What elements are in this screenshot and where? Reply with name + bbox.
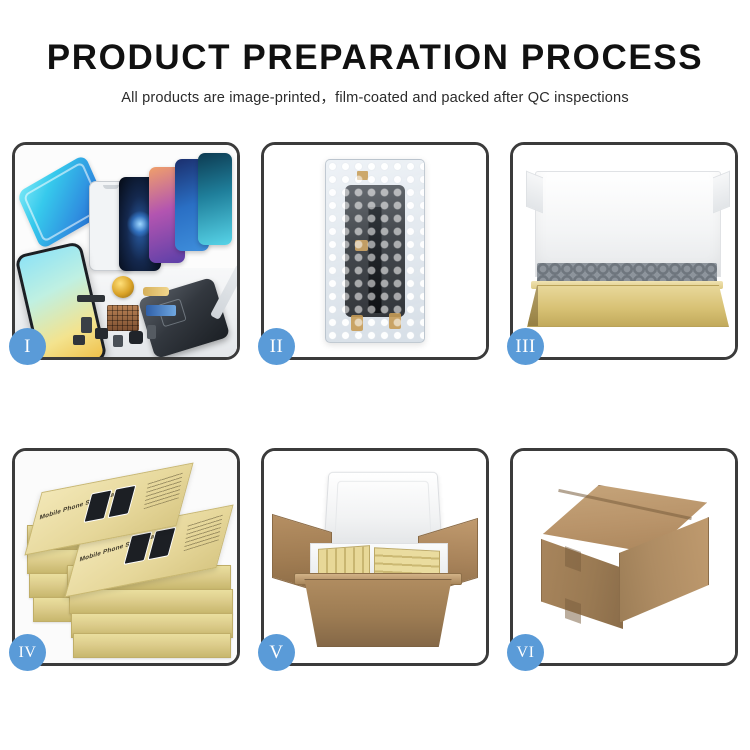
small-component-4 xyxy=(129,331,143,344)
box-layer-8 xyxy=(73,633,231,658)
step-badge-3: III xyxy=(507,328,544,365)
step-badge-4: IV xyxy=(9,634,46,671)
lid-spec-text-lines-2 xyxy=(144,472,183,510)
lid-spec-text-lines xyxy=(184,514,223,552)
step-3-image xyxy=(513,145,735,357)
step-6-image xyxy=(513,451,735,663)
step-1-image xyxy=(15,145,237,357)
process-step-panel-6[interactable]: VI xyxy=(510,448,738,666)
step-badge-6: VI xyxy=(507,634,544,671)
box-stack: Mobile Phone Spare Parts Mobile Phone Sp… xyxy=(27,473,233,651)
process-step-panel-2[interactable]: II xyxy=(261,142,489,360)
chip-board-part xyxy=(107,305,139,331)
bubble-texture-overlay xyxy=(326,160,424,342)
step-badge-5: V xyxy=(258,634,295,671)
step-numeral-6: VI xyxy=(517,644,535,662)
step-numeral-4: IV xyxy=(19,644,37,662)
step-numeral-1: I xyxy=(24,336,31,358)
process-step-grid: I II xyxy=(12,142,738,666)
step-4-image: Mobile Phone Spare Parts Mobile Phone Sp… xyxy=(15,451,237,663)
process-step-panel-3[interactable]: III xyxy=(510,142,738,360)
kraft-box-base xyxy=(527,285,729,327)
page-header: PRODUCT PREPARATION PROCESS All products… xyxy=(0,0,750,107)
small-component-1 xyxy=(81,317,92,333)
blue-flex-part xyxy=(146,305,176,316)
step-badge-2: II xyxy=(258,328,295,365)
box-layer-6 xyxy=(69,589,233,614)
step-2-image xyxy=(264,145,486,357)
small-component-5 xyxy=(147,325,156,339)
carton-body xyxy=(298,579,458,647)
process-step-panel-4[interactable]: Mobile Phone Spare Parts Mobile Phone Sp… xyxy=(12,448,240,666)
page-title: PRODUCT PREPARATION PROCESS xyxy=(0,40,750,77)
white-foam-lid xyxy=(535,171,721,277)
step-numeral-5: V xyxy=(269,642,283,664)
step-5-image xyxy=(264,451,486,663)
small-component-2 xyxy=(95,328,108,339)
flex-cable-part xyxy=(77,295,105,302)
step-numeral-3: III xyxy=(515,336,535,358)
step-badge-1: I xyxy=(9,328,46,365)
phone-display-teal xyxy=(198,153,232,245)
process-step-panel-1[interactable]: I xyxy=(12,142,240,360)
gold-connector-part xyxy=(143,287,169,296)
page-subtitle: All products are image-printed，film-coat… xyxy=(0,86,750,107)
small-component-3 xyxy=(113,335,123,347)
small-component-6 xyxy=(73,335,85,345)
step-numeral-2: II xyxy=(270,336,284,358)
speaker-coil-part xyxy=(112,276,134,298)
process-step-panel-5[interactable]: V xyxy=(261,448,489,666)
bubble-wrap-bag xyxy=(325,159,425,343)
